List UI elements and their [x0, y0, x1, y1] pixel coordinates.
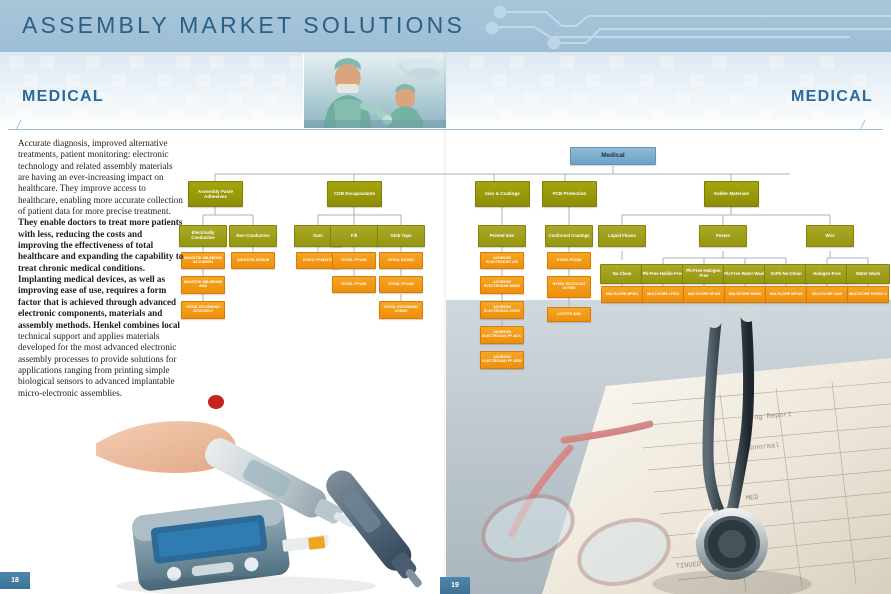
product-box[interactable]: HYSOL EO1061 [379, 252, 423, 269]
product-box[interactable]: ACHESON ELECTRODAG 479SS [480, 301, 524, 319]
product-box[interactable]: ABLESTIK ABLEBOND 2000 [181, 276, 225, 294]
product-label: ACHESON ELECTRODAG PF-407C [481, 331, 523, 339]
tree-node-no-clean[interactable]: No-Clean [600, 264, 644, 284]
node-label: Assembly Paste Adhesives [189, 189, 242, 199]
node-label: SnPb No-Clean [770, 272, 801, 277]
product-box[interactable]: ABLESTIK ABLEBOND 84-1LMISR4 [181, 252, 225, 269]
product-box[interactable]: HYSOL FP4451 [332, 276, 376, 293]
node-label: Pb-Free Halogen-Free [683, 269, 725, 279]
node-label: Liquid Fluxes [608, 234, 636, 239]
product-label: HYSOL FP4451TD [303, 259, 333, 263]
tree-node-glob-tops[interactable]: Glob Tops [377, 225, 425, 247]
product-box[interactable]: LOCTITE 5250 [547, 307, 591, 322]
node-label: Medical [601, 152, 624, 159]
tree-node-water-wash[interactable]: Water Wash [846, 264, 890, 284]
node-label: Electrically Conductive [180, 231, 226, 241]
body-copy: Accurate diagnosis, improved alternative… [18, 138, 184, 399]
tree-node-root[interactable]: Medical [570, 147, 656, 165]
tree-node-pb-free-halide-free[interactable]: Pb-Free Halide-Free [641, 264, 685, 284]
tree-node-pb-free-water-wash[interactable]: Pb-Free Water Wash [723, 264, 767, 284]
product-label: HYSOL ECCOBOND CE3103WLV [182, 306, 224, 314]
node-label: Pb-Free Water Wash [724, 272, 765, 277]
tree-node-liquid-fluxes[interactable]: Liquid Fluxes [598, 225, 646, 247]
page-number-right: 19 [440, 577, 470, 594]
page-title: ASSEMBLY MARKET SOLUTIONS [22, 12, 465, 39]
product-box[interactable]: HYSOL FP4460 [379, 276, 423, 293]
node-label: Glob Tops [391, 234, 412, 239]
product-box[interactable]: HYSOL FP4450 [332, 252, 376, 269]
product-box[interactable]: ACHESON ELECTRODAG 4530B [480, 276, 524, 294]
node-label: Conformal Coatings [548, 234, 589, 239]
tree-node-solder-materials[interactable]: Solder Materials [704, 181, 759, 207]
product-label: HYSOL FP4450 [341, 259, 366, 263]
product-box[interactable]: ABLESTIK 2025D/B [231, 252, 275, 269]
surgeons-operating-room-photo [303, 54, 446, 128]
product-box[interactable]: MULTICORE LF318 [642, 286, 684, 303]
tree-node-wire[interactable]: Wire [806, 225, 854, 247]
node-label: Non-Conductive [236, 234, 269, 239]
node-label: Fill [351, 234, 357, 239]
tree-node-assembly-paste-adhesives[interactable]: Assembly Paste Adhesives [188, 181, 243, 207]
node-label: No-Clean [613, 272, 632, 277]
product-label: ABLESTIK ABLEBOND 84-1LMISR4 [182, 257, 224, 265]
section-label-medical-right: MEDICAL [791, 88, 873, 106]
product-box[interactable]: MULTICORE MP001 [601, 286, 643, 303]
product-label: MULTICORE C400 [812, 293, 842, 297]
stethoscope-eyeglasses-chart-photo: Prog Report Abnormal MED TINUED ON [446, 300, 891, 594]
node-label: Solder Materials [714, 191, 750, 196]
section-label-medical-left: MEDICAL [22, 88, 104, 106]
node-label: Dam [313, 234, 322, 239]
node-label: Water Wash [856, 272, 880, 277]
product-label: MULTICORE MP001 [606, 293, 639, 297]
product-box[interactable]: MULTICORE W3000 [724, 286, 766, 303]
product-box[interactable]: HYSOL ECCOBOND UV8030 [379, 301, 423, 319]
page-number-label: 19 [451, 582, 459, 589]
tree-node-cob-encapsulants[interactable]: COB Encapsulants [327, 181, 382, 207]
body-paragraph-3: technical support and applies materials … [18, 331, 184, 399]
tree-node-non-conductive[interactable]: Non-Conductive [229, 225, 277, 247]
product-label: HYSOL FP4460 [388, 283, 413, 287]
body-paragraph-1: Accurate diagnosis, improved alternative… [18, 138, 184, 217]
product-box[interactable]: HYSOL ECCOBOND CE3103WLV [181, 301, 225, 319]
node-label: Pb-Free Halide-Free [643, 272, 684, 277]
header-band: ASSEMBLY MARKET SOLUTIONS [0, 0, 891, 52]
product-box[interactable]: MULTICORE MP218 [765, 286, 807, 303]
product-box[interactable]: MULTICORE HYDRO-X [847, 286, 889, 303]
product-label: ABLESTIK 2025D/B [237, 259, 269, 263]
node-label: Wire [825, 234, 834, 239]
tree-node-pb-free-halogen-free[interactable]: Pb-Free Halogen-Free [682, 264, 726, 284]
product-box[interactable]: ACHESON ELECTRODAG 109 [480, 252, 524, 269]
product-label: HYSOL FP4451 [341, 283, 366, 287]
product-label: ACHESON ELECTRODAG PF-455B [481, 356, 523, 364]
node-label: COB Encapsulants [334, 191, 375, 196]
page-number-left: 18 [0, 572, 30, 589]
node-label: Pastes [716, 234, 730, 239]
page-spread: ASSEMBLY MARKET SOLUTIONS [0, 0, 891, 594]
product-label: ACHESON ELECTRODAG 479SS [481, 306, 523, 314]
tree-node-pcb-protection[interactable]: PCB Protection [542, 181, 597, 207]
product-label: ACHESON ELECTRODAG 4530B [481, 281, 523, 289]
product-label: HYSOL PC18M [557, 259, 582, 263]
tree-node-printed-inks[interactable]: Printed Inks [478, 225, 526, 247]
node-label: Printed Inks [490, 234, 515, 239]
product-box[interactable]: MULTICORE HF108 [683, 286, 725, 303]
product-box[interactable]: ACHESON ELECTRODAG PF-407C [480, 326, 524, 344]
product-label: MULTICORE HYDRO-X [849, 293, 887, 297]
product-label: MULTICORE LF318 [647, 293, 679, 297]
product-label: LOCTITE 5250 [557, 313, 581, 317]
node-label: Inks & Coatings [485, 191, 520, 196]
tree-node-electrically-conductive[interactable]: Electrically Conductive [179, 225, 227, 247]
tree-node-fill[interactable]: Fill [330, 225, 378, 247]
product-label: HYSOL ECCOCOAT UV7985 [548, 283, 590, 291]
circuit-trace-icon [440, 0, 891, 52]
node-label: Halogen-Free [813, 272, 840, 277]
tree-node-halogen-free[interactable]: Halogen-Free [805, 264, 849, 284]
product-label: ACHESON ELECTRODAG 109 [481, 257, 523, 265]
product-label: ABLESTIK ABLEBOND 2000 [182, 281, 224, 289]
product-label: HYSOL EO1061 [388, 259, 414, 263]
tree-node-pastes[interactable]: Pastes [699, 225, 747, 247]
product-box[interactable]: ACHESON ELECTRODAG PF-455B [480, 351, 524, 369]
tree-node-snpb-no-clean[interactable]: SnPb No-Clean [764, 264, 808, 284]
tree-node-inks-and-coatings[interactable]: Inks & Coatings [475, 181, 530, 207]
product-label: MULTICORE W3000 [729, 293, 762, 297]
product-label: MULTICORE HF108 [688, 293, 720, 297]
product-box[interactable]: MULTICORE C400 [806, 286, 848, 303]
tree-node-conformal-coatings[interactable]: Conformal Coatings [545, 225, 593, 247]
page-number-label: 18 [11, 577, 19, 584]
product-box[interactable]: HYSOL ECCOCOAT UV7985 [547, 276, 591, 298]
body-paragraph-2: They enable doctors to treat more patien… [18, 217, 184, 330]
svg-text:MED: MED [746, 494, 759, 503]
node-label: PCB Protection [553, 191, 587, 196]
product-label: MULTICORE MP218 [770, 293, 803, 297]
product-label: HYSOL ECCOBOND UV8030 [380, 306, 422, 314]
product-box[interactable]: HYSOL PC18M [547, 252, 591, 269]
